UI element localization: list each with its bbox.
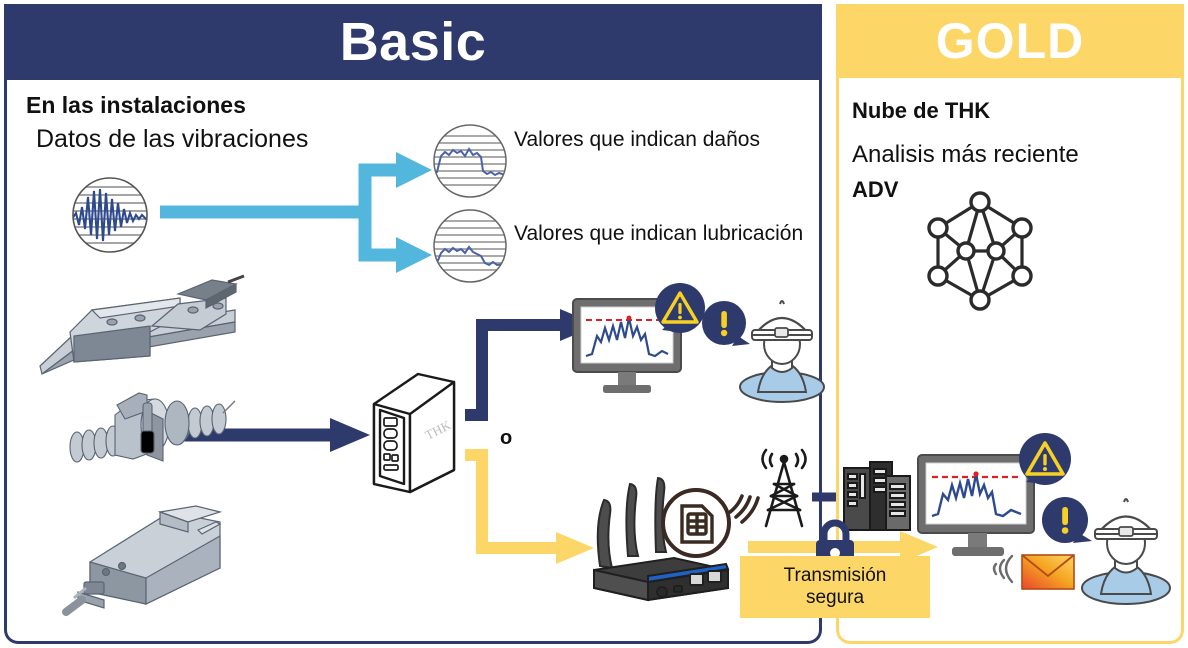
network-graph-icon	[920, 188, 1040, 314]
cell-tower-icon	[752, 450, 816, 530]
ball-screw-product-icon	[55, 385, 240, 480]
secure-transmission-line1: Transmisión	[784, 565, 887, 587]
lubrication-values-label: Valores que indican lubricación	[514, 222, 803, 246]
basic-panel-header: Basic	[4, 4, 822, 80]
vibration-waveform-circle-icon	[62, 175, 158, 255]
warning-triangle-icon	[1016, 432, 1074, 496]
gold-panel-header: GOLD	[836, 4, 1184, 78]
actuator-product-icon	[60, 500, 240, 620]
basic-panel-title: Basic	[340, 15, 487, 69]
worker-helmet-icon	[1076, 490, 1176, 604]
damage-waveform-circle-icon	[425, 122, 515, 200]
alert-waves-icon	[984, 548, 1020, 590]
onsite-section-label: En las instalaciones	[26, 92, 246, 118]
latest-analysis-label: Analisis más reciente	[852, 141, 1079, 169]
gold-panel-title: GOLD	[936, 16, 1084, 66]
thk-cloud-label: Nube de THK	[852, 98, 990, 123]
adv-label: ADV	[852, 177, 898, 202]
or-connector-label: o	[500, 427, 512, 450]
lubrication-waveform-circle-icon	[425, 207, 515, 285]
secure-transmission-line2: segura	[806, 587, 864, 609]
worker-helmet-icon	[734, 292, 830, 402]
data-collector-box-icon: THK	[358, 368, 468, 498]
email-envelope-icon	[1020, 552, 1076, 592]
linear-guide-product-icon	[30, 270, 245, 380]
secure-transmission-box: Transmisión segura	[740, 556, 930, 618]
vibration-data-label: Datos de las vibraciones	[36, 125, 308, 154]
damage-values-label: Valores que indican daños	[514, 128, 760, 152]
sim-card-icon	[656, 476, 756, 562]
